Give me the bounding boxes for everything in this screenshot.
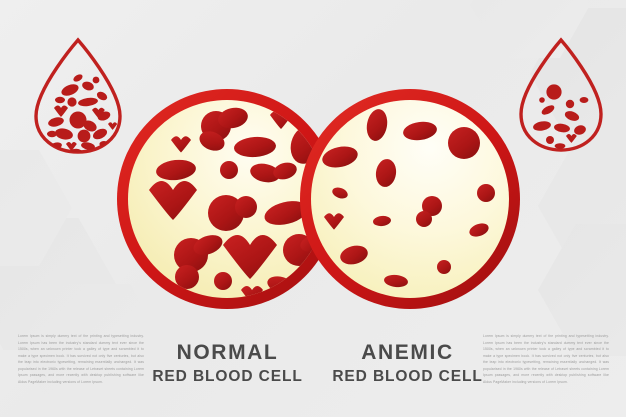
- right-description-text: Lorem Ipsum is simply dummy text of the …: [483, 333, 609, 385]
- hexagon-shape: [0, 150, 72, 266]
- hexagon-shape: [538, 140, 626, 272]
- blood-drop-full-icon: [26, 34, 130, 156]
- anemic-red-blood-cell-circle: [296, 85, 524, 313]
- infographic-canvas: NORMAL RED BLOOD CELL ANEMIC RED BLOOD C…: [0, 0, 626, 417]
- normal-subtitle: RED BLOOD CELL: [145, 368, 310, 386]
- blood-drop-sparse-icon: [512, 34, 610, 154]
- normal-title: NORMAL: [145, 341, 310, 366]
- anemic-title: ANEMIC: [325, 341, 490, 366]
- anemic-caption-block: ANEMIC RED BLOOD CELL: [325, 341, 490, 386]
- normal-caption-block: NORMAL RED BLOOD CELL: [145, 341, 310, 386]
- anemic-subtitle: RED BLOOD CELL: [325, 368, 490, 386]
- left-description-text: Lorem Ipsum is simply dummy text of the …: [18, 333, 144, 385]
- hexagon-shape: [0, 218, 116, 350]
